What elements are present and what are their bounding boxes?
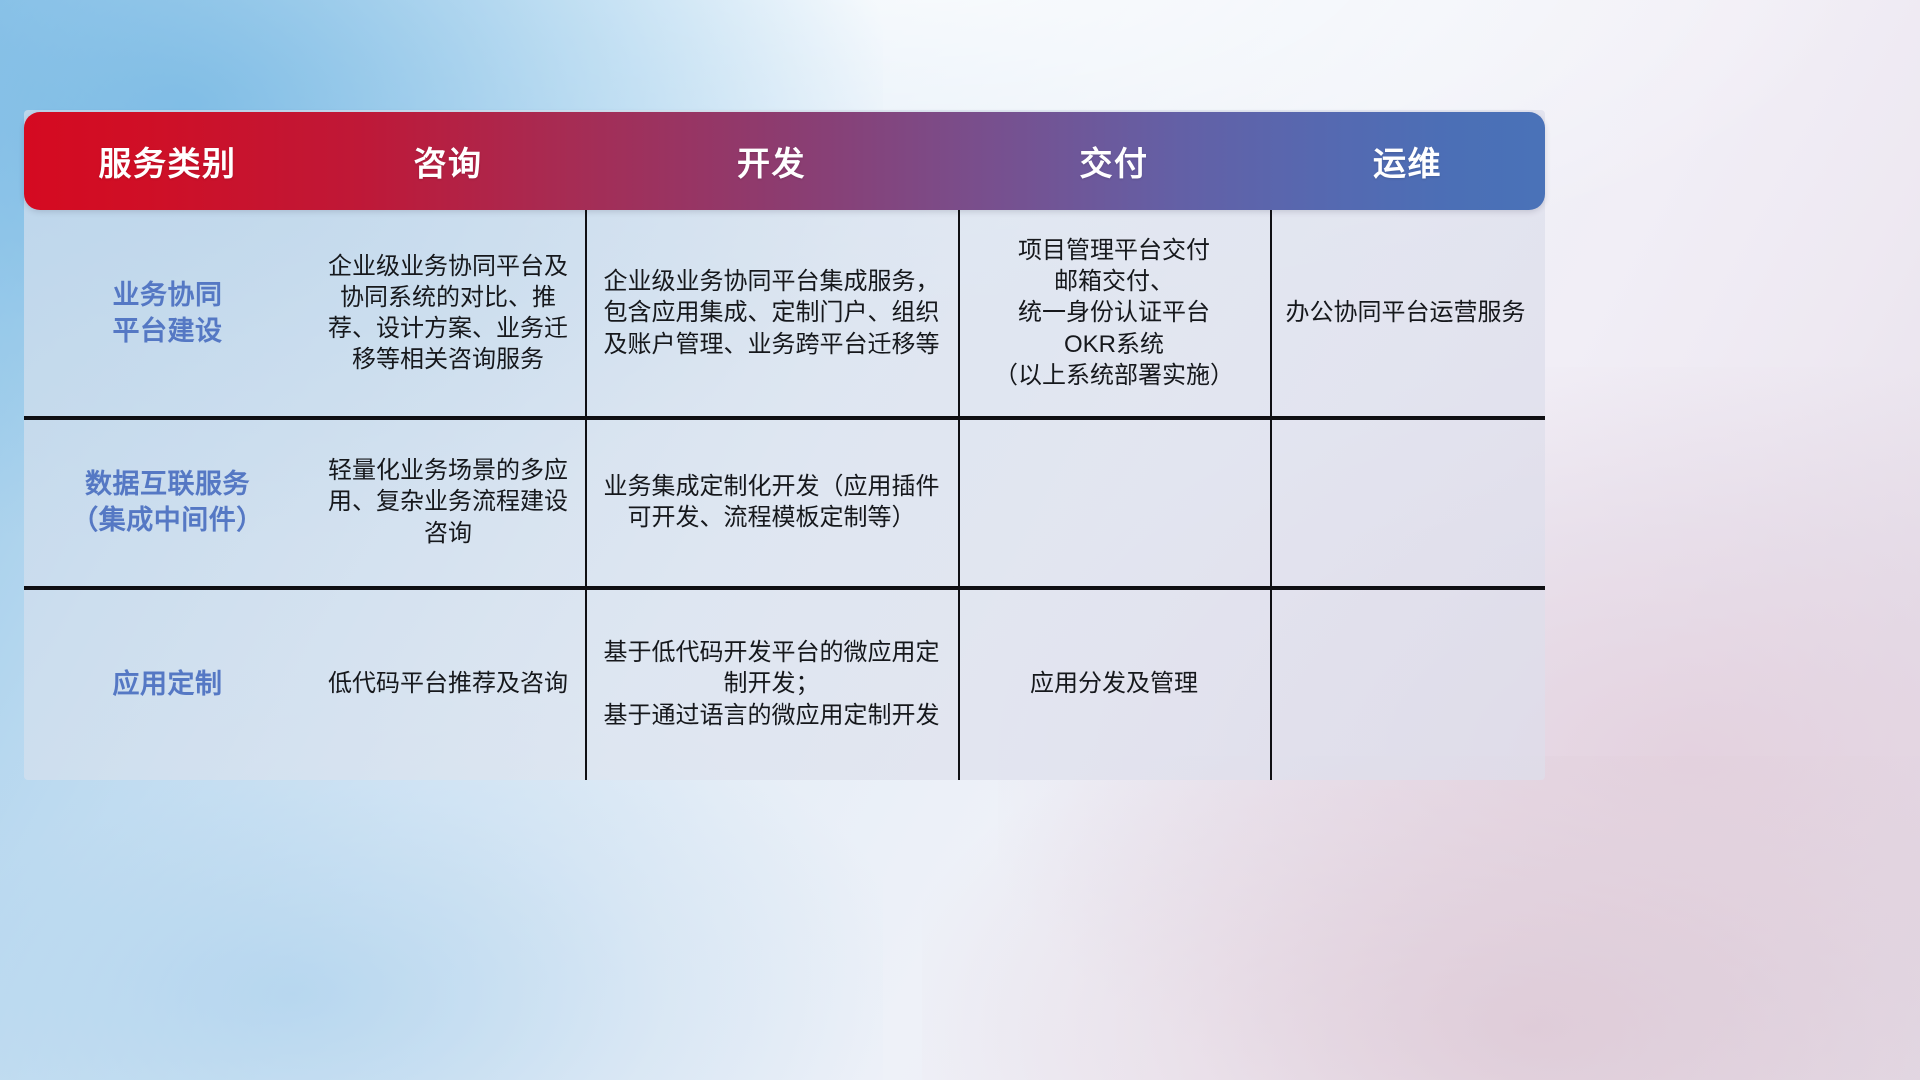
table-row: 业务协同平台建设 企业级业务协同平台及协同系统的对比、推荐、设计方案、业务迁移等… (24, 210, 1545, 418)
cell-development: 业务集成定制化开发（应用插件可开发、流程模板定制等） (585, 418, 958, 586)
cell-consulting: 企业级业务协同平台及协同系统的对比、推荐、设计方案、业务迁移等相关咨询服务 (311, 210, 585, 416)
column-header-operations: 运维 (1270, 137, 1545, 185)
cell-category: 业务协同平台建设 (24, 210, 311, 416)
cell-category: 应用定制 (24, 588, 311, 780)
cell-consulting: 轻量化业务场景的多应用、复杂业务流程建设咨询 (311, 418, 585, 586)
cell-text: 基于低代码开发平台的微应用定制开发；基于通过语言的微应用定制开发 (595, 637, 948, 731)
column-divider (958, 210, 960, 780)
cell-text: 低代码平台推荐及咨询 (328, 668, 568, 699)
cell-operations: 办公协同平台运营服务 (1270, 210, 1541, 416)
row-divider (24, 588, 1545, 590)
cell-text: 应用分发及管理 (1030, 668, 1198, 699)
column-header-development: 开发 (585, 137, 958, 185)
cell-text: 轻量化业务场景的多应用、复杂业务流程建设咨询 (321, 455, 575, 549)
cell-text: 企业级业务协同平台集成服务，包含应用集成、定制门户、组织及账户管理、业务跨平台迁… (595, 266, 948, 360)
cell-text: 企业级业务协同平台及协同系统的对比、推荐、设计方案、业务迁移等相关咨询服务 (321, 251, 575, 376)
category-label: 业务协同平台建设 (113, 277, 223, 349)
table-body: 业务协同平台建设 企业级业务协同平台及协同系统的对比、推荐、设计方案、业务迁移等… (24, 210, 1545, 780)
cell-category: 数据互联服务（集成中间件） (24, 418, 311, 586)
category-label: 数据互联服务（集成中间件） (71, 466, 264, 538)
cell-development: 基于低代码开发平台的微应用定制开发；基于通过语言的微应用定制开发 (585, 588, 958, 780)
cell-operations (1270, 588, 1541, 780)
cell-delivery: 应用分发及管理 (958, 588, 1270, 780)
cell-consulting: 低代码平台推荐及咨询 (311, 588, 585, 780)
column-header-consulting: 咨询 (311, 137, 585, 185)
row-divider (24, 418, 1545, 420)
table-header-row: 服务类别 咨询 开发 交付 运维 (24, 112, 1545, 210)
cell-delivery (958, 418, 1270, 586)
cell-text: 项目管理平台交付邮箱交付、统一身份认证平台OKR系统（以上系统部署实施） (994, 235, 1234, 391)
cell-delivery: 项目管理平台交付邮箱交付、统一身份认证平台OKR系统（以上系统部署实施） (958, 210, 1270, 416)
background-glow-bottom-right (922, 756, 1920, 1080)
column-divider (585, 210, 587, 780)
column-header-delivery: 交付 (958, 137, 1270, 185)
cell-text: 业务集成定制化开发（应用插件可开发、流程模板定制等） (595, 471, 948, 533)
table-row: 数据互联服务（集成中间件） 轻量化业务场景的多应用、复杂业务流程建设咨询 业务集… (24, 418, 1545, 588)
table-row: 应用定制 低代码平台推荐及咨询 基于低代码开发平台的微应用定制开发；基于通过语言… (24, 588, 1545, 780)
column-header-service-category: 服务类别 (24, 137, 311, 185)
category-label: 应用定制 (113, 666, 223, 702)
cell-development: 企业级业务协同平台集成服务，包含应用集成、定制门户、组织及账户管理、业务跨平台迁… (585, 210, 958, 416)
cell-text: 办公协同平台运营服务 (1286, 297, 1526, 328)
column-divider (1270, 210, 1272, 780)
cell-operations (1270, 418, 1541, 586)
